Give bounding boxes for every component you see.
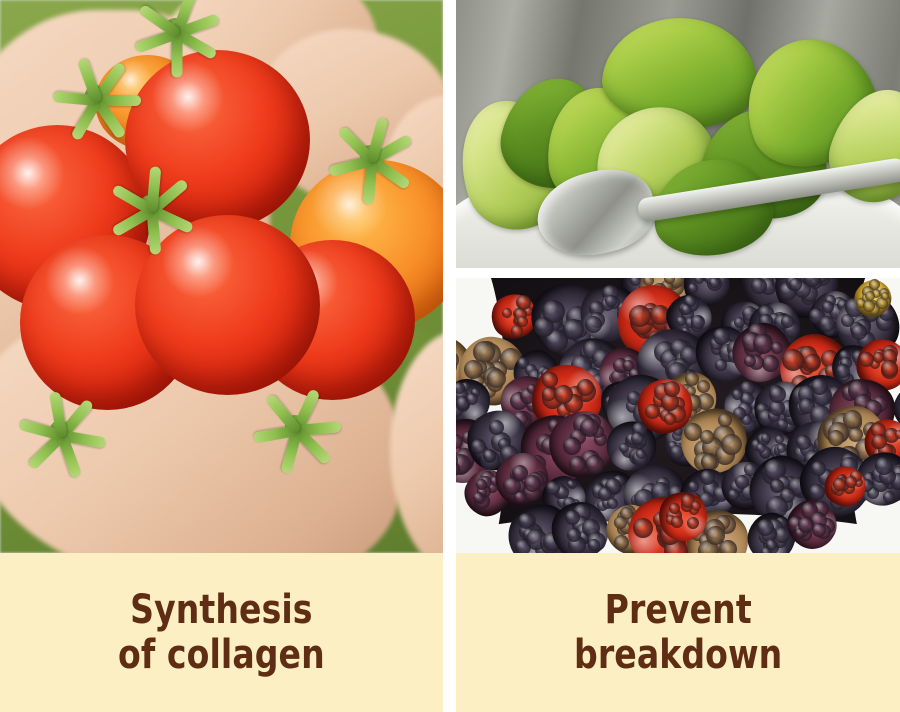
blackberry-drupelet [565, 510, 580, 525]
blackberry-drupelet [756, 443, 766, 453]
blackberry-drupelet [664, 413, 676, 425]
blackberry-drupelet [822, 301, 834, 313]
blackberry-drupelet [554, 385, 573, 404]
blackberry-drupelet [476, 479, 487, 490]
blackberry-drupelet [580, 418, 599, 437]
blackberry-drupelet [697, 380, 710, 393]
blackberry-drupelet [744, 355, 756, 367]
blackberry-drupelet [512, 465, 528, 481]
blackberry-drupelet [542, 372, 558, 388]
blackberry-drupelet [833, 478, 846, 491]
blackberry-drupelet [517, 316, 528, 327]
blackberry-drupelet [782, 349, 804, 371]
photo-collage: Synthesis of collagen Prevent breakdown [0, 0, 900, 712]
caption-text-prevent-breakdown: Prevent breakdown [574, 588, 782, 678]
blackberry-drupelet [614, 535, 629, 550]
blackberry-drupelet [466, 393, 478, 405]
blackberry-drupelet [761, 433, 771, 443]
blackberry-drupelet [781, 315, 794, 328]
blackberry-drupelet [546, 481, 560, 495]
blackberry-drupelet [769, 386, 786, 403]
blackberry-drupelet [873, 352, 884, 363]
photo-panel-tomatoes [0, 0, 443, 553]
blackberry-drupelet [706, 526, 725, 545]
blackberry-drupelet [819, 316, 835, 332]
blackberry-drupelet [688, 283, 698, 293]
photo-panel-blackberries [455, 278, 900, 553]
blackberry-drupelet [804, 354, 820, 370]
blackberry-drupelet [607, 498, 618, 509]
blackberry-drupelet [567, 528, 581, 542]
blackberry-drupelet [828, 430, 844, 446]
blackberry-drupelet [464, 360, 483, 379]
blackberry-drupelet [881, 292, 889, 300]
divider-vertical [443, 0, 456, 712]
tomatoes-artwork [0, 0, 443, 553]
blackberry-drupelet [869, 279, 880, 290]
blackberry-drupelet [812, 523, 826, 537]
blackberry-drupelet [483, 449, 496, 462]
blackberry-drupelet [713, 328, 730, 345]
blackberry-drupelet [859, 352, 874, 367]
blackberry-drupelet [645, 404, 660, 419]
blackberry-drupelet [751, 278, 767, 294]
caption-cell-left: Synthesis of collagen [0, 553, 443, 712]
blackberry-drupelet [614, 516, 627, 529]
blackberry-drupelet [577, 379, 594, 396]
blackberry-drupelet [676, 316, 686, 326]
blackberry-drupelet [518, 513, 534, 529]
blackberry-drupelet [777, 444, 786, 453]
blackberry-drupelet [798, 517, 814, 533]
blackberry-drupelet [631, 432, 644, 445]
blackberry-drupelet [605, 295, 617, 307]
tomato-center-lower [135, 215, 320, 395]
blackberry-drupelet [489, 420, 504, 435]
blackberries-artwork [455, 278, 900, 553]
blackberry-drupelet [872, 434, 887, 449]
blackberry-drupelet [895, 430, 900, 439]
blackberry-drupelet [700, 470, 715, 485]
blackberry-drupelet [796, 435, 811, 450]
blackberry-drupelet [691, 315, 705, 329]
blackberry-drupelet [542, 300, 565, 323]
caption-text-synthesis-of-collagen: Synthesis of collagen [118, 588, 325, 678]
blackberry-drupelet [633, 518, 653, 538]
divider-horizontal [456, 268, 900, 278]
blackberry-drupelet [629, 305, 651, 327]
blackberry-drupelet [636, 449, 646, 459]
blackberry-drupelet [569, 456, 586, 473]
blackberry-drupelet [851, 324, 867, 340]
blackberry-drupelet [843, 410, 862, 429]
blackberry-drupelet [563, 437, 581, 455]
blackberry-drupelet [811, 378, 828, 395]
blackberry-drupelet [502, 308, 512, 318]
blackberry-drupelet [732, 389, 743, 400]
blackberry-drupelet [473, 492, 484, 503]
blackberry-drupelet [770, 479, 784, 493]
blackberry-drupelet [762, 355, 779, 372]
blackberry-drupelet [516, 295, 531, 310]
photo-panel-avocados [455, 0, 900, 268]
avocados-artwork [455, 0, 900, 268]
blackberry-drupelet [848, 427, 863, 442]
blackberry-drupelet [567, 480, 575, 488]
blackberry-drupelet [881, 360, 898, 377]
blackberry-drupelet [585, 316, 602, 333]
blackberry-drupelet [771, 342, 783, 354]
blackberry-drupelet [688, 481, 699, 492]
blackberry-drupelet [757, 519, 774, 536]
blackberry-drupelet [718, 413, 732, 427]
blackberry-drupelet [735, 475, 749, 489]
blackberry-drupelet [809, 484, 825, 500]
blackberry-drupelet [700, 430, 714, 444]
blackberry-drupelet [691, 501, 701, 511]
blackberry-drupelet [836, 364, 850, 378]
blackberry-drupelet [777, 419, 788, 430]
blackberry-drupelet [863, 300, 875, 312]
blackberry-drupelet [487, 369, 506, 388]
blackberry-drupelet [875, 457, 893, 475]
blackberry-drupelet [789, 278, 802, 291]
blackberry-drupelet [671, 516, 683, 528]
blackberry-drupelet [681, 304, 692, 315]
caption-cell-right: Prevent breakdown [456, 553, 900, 712]
blackberry-drupelet [588, 539, 600, 551]
blackberry-drupelet [669, 503, 680, 514]
blackberry-drupelet [883, 491, 895, 503]
blackberry-drupelet [766, 539, 777, 550]
blackberry-drupelet [775, 435, 784, 444]
blackberry-drupelet [753, 334, 773, 354]
blackberry-drupelet [811, 461, 826, 476]
blackberry-drupelet [728, 489, 739, 500]
blackberry-drupelet [687, 517, 699, 529]
blackberry-drupelet [664, 381, 680, 397]
blackberry-drupelet [619, 443, 629, 453]
blackberry-drupelet [845, 476, 857, 488]
blackberry-drupelet [721, 434, 742, 455]
blackberry-drupelet [585, 455, 604, 474]
